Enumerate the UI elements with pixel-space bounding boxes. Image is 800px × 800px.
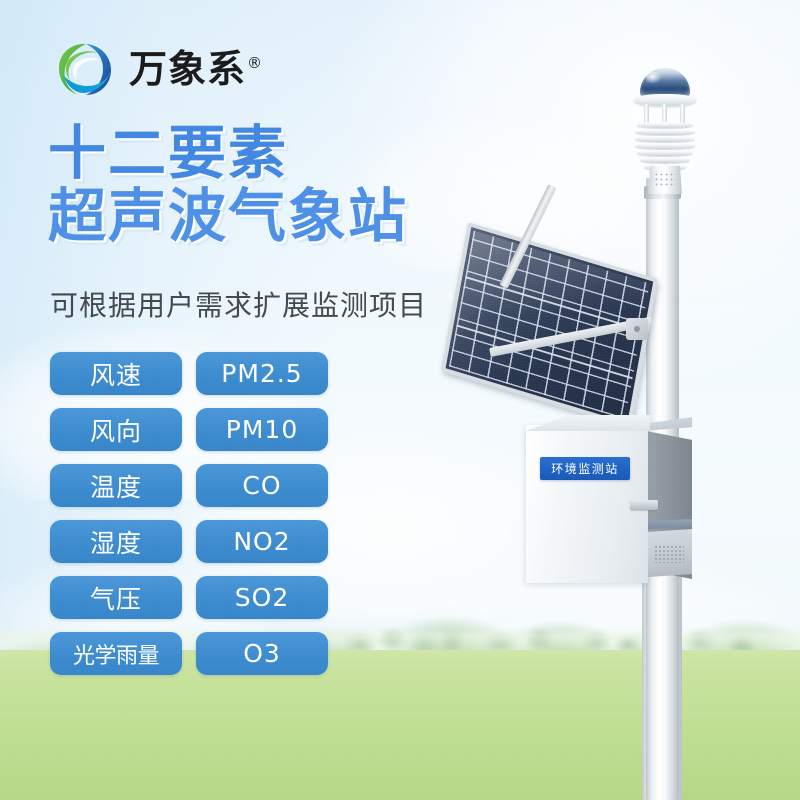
feature-tag[interactable]: 风向 (50, 408, 182, 451)
feature-tag[interactable]: PM10 (196, 408, 328, 451)
solar-panel-assembly (468, 222, 668, 397)
feature-tag[interactable]: SO2 (196, 576, 328, 619)
feature-tag[interactable]: CO (196, 464, 328, 507)
trademark-symbol: ® (247, 54, 263, 72)
brand-name: 万象系® (129, 50, 263, 88)
feature-tag[interactable]: 湿度 (50, 520, 182, 563)
feature-tag-grid: 风速 PM2.5 风向 PM10 温度 CO 湿度 NO2 气压 SO2 光学雨… (50, 352, 328, 675)
feature-tag[interactable]: PM2.5 (196, 352, 328, 395)
pole-bracket-icon (626, 318, 648, 340)
headline-line-2: 超声波气象站 (48, 185, 408, 248)
weather-station-illustration: 环境监测站 (430, 0, 800, 800)
feature-tag[interactable]: 温度 (50, 464, 182, 507)
radiation-shield-icon (635, 122, 695, 170)
headline-line-1: 十二要素 (48, 122, 408, 185)
brand-lockup: 万象系® (55, 40, 263, 98)
cabinet-label: 环境监测站 (540, 457, 630, 480)
ultrasonic-weather-sensor-icon (626, 60, 704, 190)
feature-tag[interactable]: 气压 (50, 576, 182, 619)
feature-tag[interactable]: 光学雨量 (50, 632, 182, 675)
globe-swirl-logo-icon (55, 40, 115, 98)
cabinet-latch-icon (630, 500, 658, 510)
subtitle: 可根据用户需求扩展监测项目 (50, 284, 427, 324)
control-cabinet-icon: 环境监测站 (526, 415, 701, 587)
sensor-vent-holes-icon (654, 172, 676, 186)
product-poster: 环境监测站 (0, 0, 800, 800)
feature-tag[interactable]: 风速 (50, 352, 182, 395)
headline: 十二要素 超声波气象站 (48, 122, 408, 247)
feature-tag[interactable]: O3 (196, 632, 328, 675)
cabinet-lid-icon (526, 415, 650, 431)
feature-tag[interactable]: NO2 (196, 520, 328, 563)
cabinet-vent-holes-icon (654, 545, 684, 563)
